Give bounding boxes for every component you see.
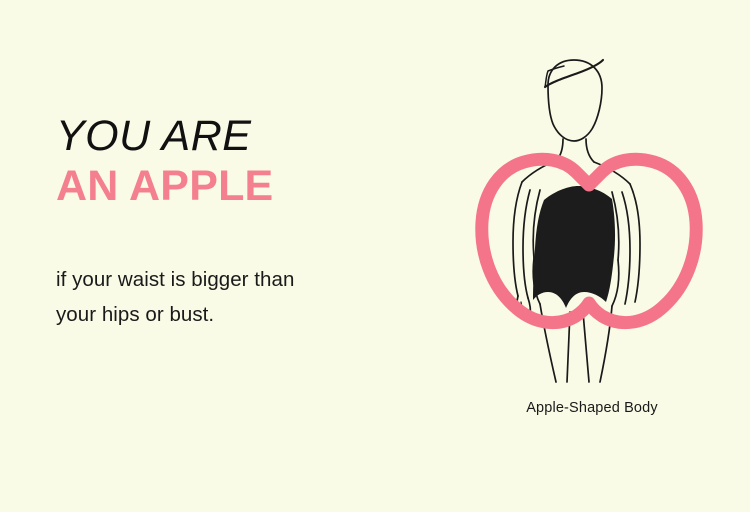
hair-icon: [545, 60, 603, 87]
body-text-line-1: if your waist is bigger than: [56, 262, 396, 297]
left-arm-outer-line: [513, 182, 522, 296]
right-arm-inner-line: [622, 192, 630, 304]
right-leg-inner-line: [583, 312, 589, 382]
bodysuit-shape: [533, 186, 615, 308]
headline-line-1: YOU ARE: [56, 112, 396, 162]
right-arm-outer-line: [630, 184, 640, 302]
illustration-caption: Apple-Shaped Body: [452, 400, 732, 416]
hip-right-line: [612, 260, 619, 306]
poster-canvas: YOU ARE AN APPLE if your waist is bigger…: [0, 0, 750, 512]
body-text: if your waist is bigger than your hips o…: [56, 212, 396, 333]
neck-right-line: [586, 139, 594, 162]
face-icon: [548, 60, 602, 141]
figure-svg: [452, 40, 732, 400]
headline-line-2: AN APPLE: [56, 162, 396, 212]
left-arm-inner-line: [523, 190, 530, 298]
body-shape-illustration: [452, 40, 732, 400]
body-text-line-2: your hips or bust.: [56, 297, 396, 332]
text-column: YOU ARE AN APPLE if your waist is bigger…: [56, 112, 396, 332]
